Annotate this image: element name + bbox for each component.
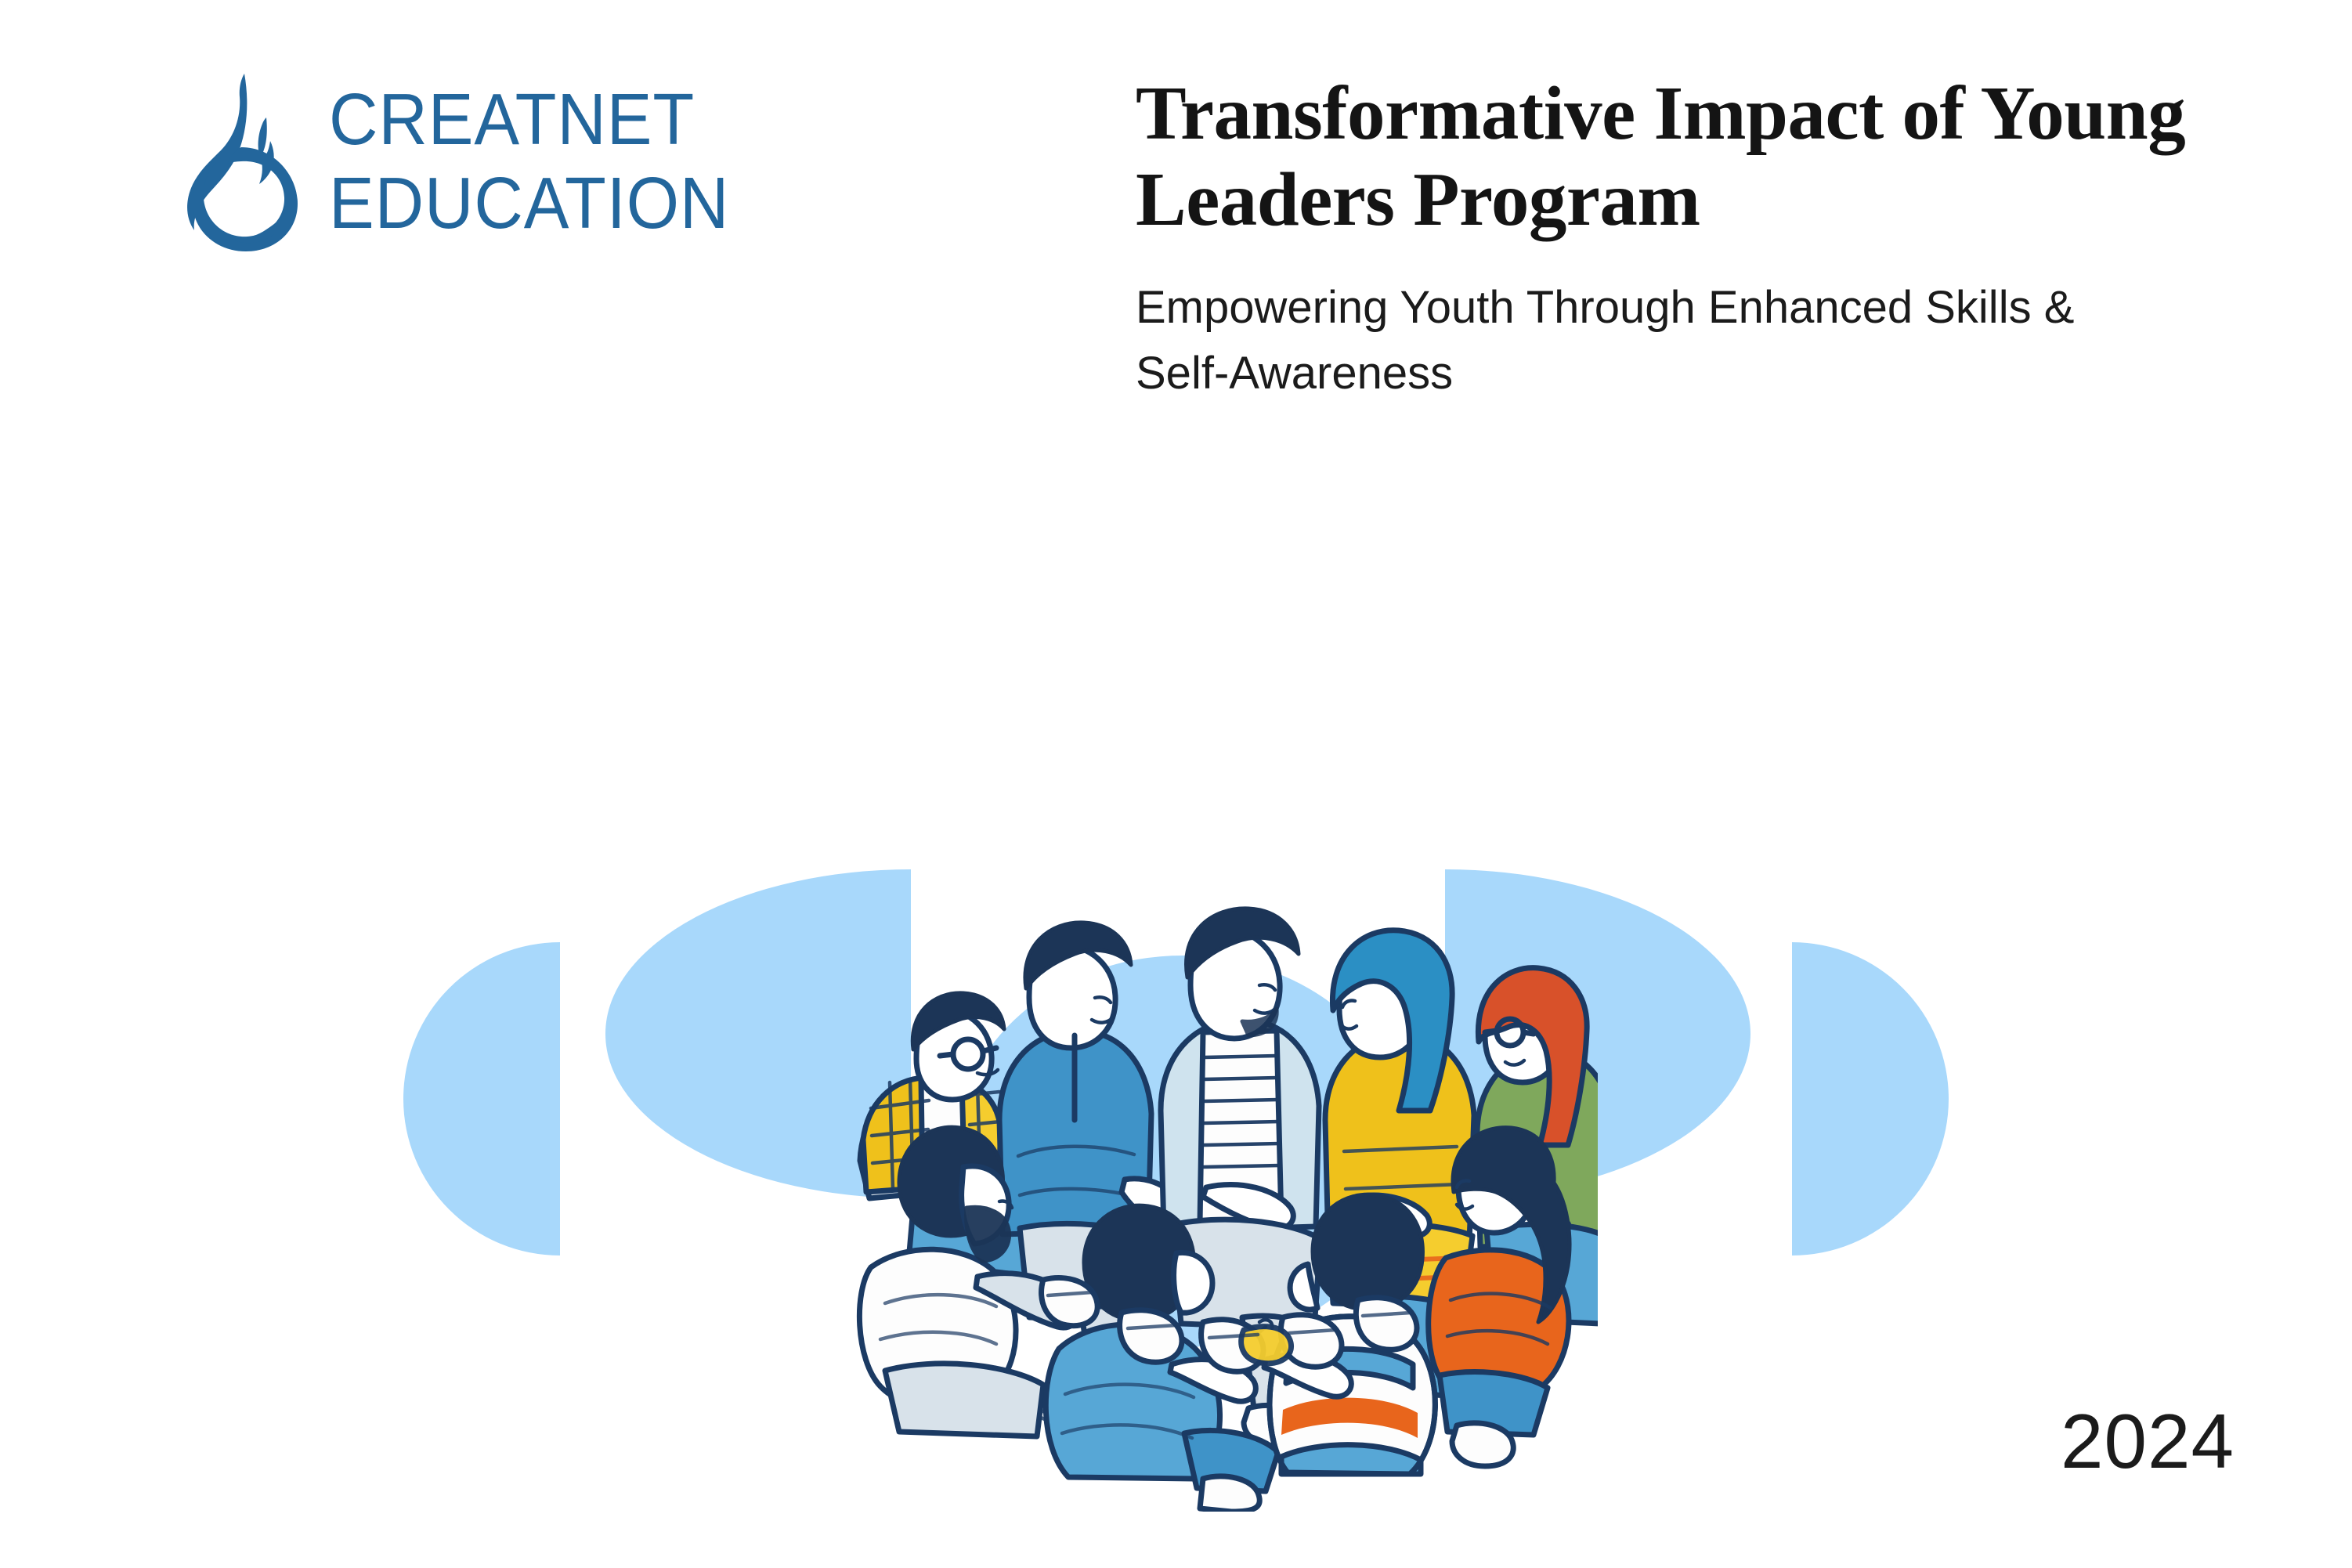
page-subtitle: Empowering Youth Through Enhanced Skills…: [1136, 275, 2170, 406]
cover-page: CREATNET EDUCATION Transformative Impact…: [0, 0, 2352, 1568]
left-outer-half-circle-shape: [403, 942, 560, 1255]
title-block: Transformative Impact of Young Leaders P…: [1136, 70, 2279, 406]
year-label: 2024: [2061, 1397, 2235, 1486]
youth-circle-discussion-illustration: .ink { fill:none; stroke:#1B3A63; stroke…: [768, 681, 1598, 1512]
right-outer-half-circle-shape: [1792, 942, 1949, 1255]
brand-logo[interactable]: CREATNET EDUCATION: [182, 69, 760, 253]
page-header: CREATNET EDUCATION Transformative Impact…: [0, 0, 2352, 486]
brand-name-line-1: CREATNET: [329, 85, 729, 153]
page-title: Transformative Impact of Young Leaders P…: [1136, 70, 2279, 242]
brand-wordmark: CREATNET EDUCATION: [329, 85, 760, 237]
brand-name-line-2: EDUCATION: [329, 169, 729, 237]
hero-section: .ink { fill:none; stroke:#1B3A63; stroke…: [0, 689, 2352, 1519]
flame-droplet-logo-icon: [182, 69, 301, 253]
